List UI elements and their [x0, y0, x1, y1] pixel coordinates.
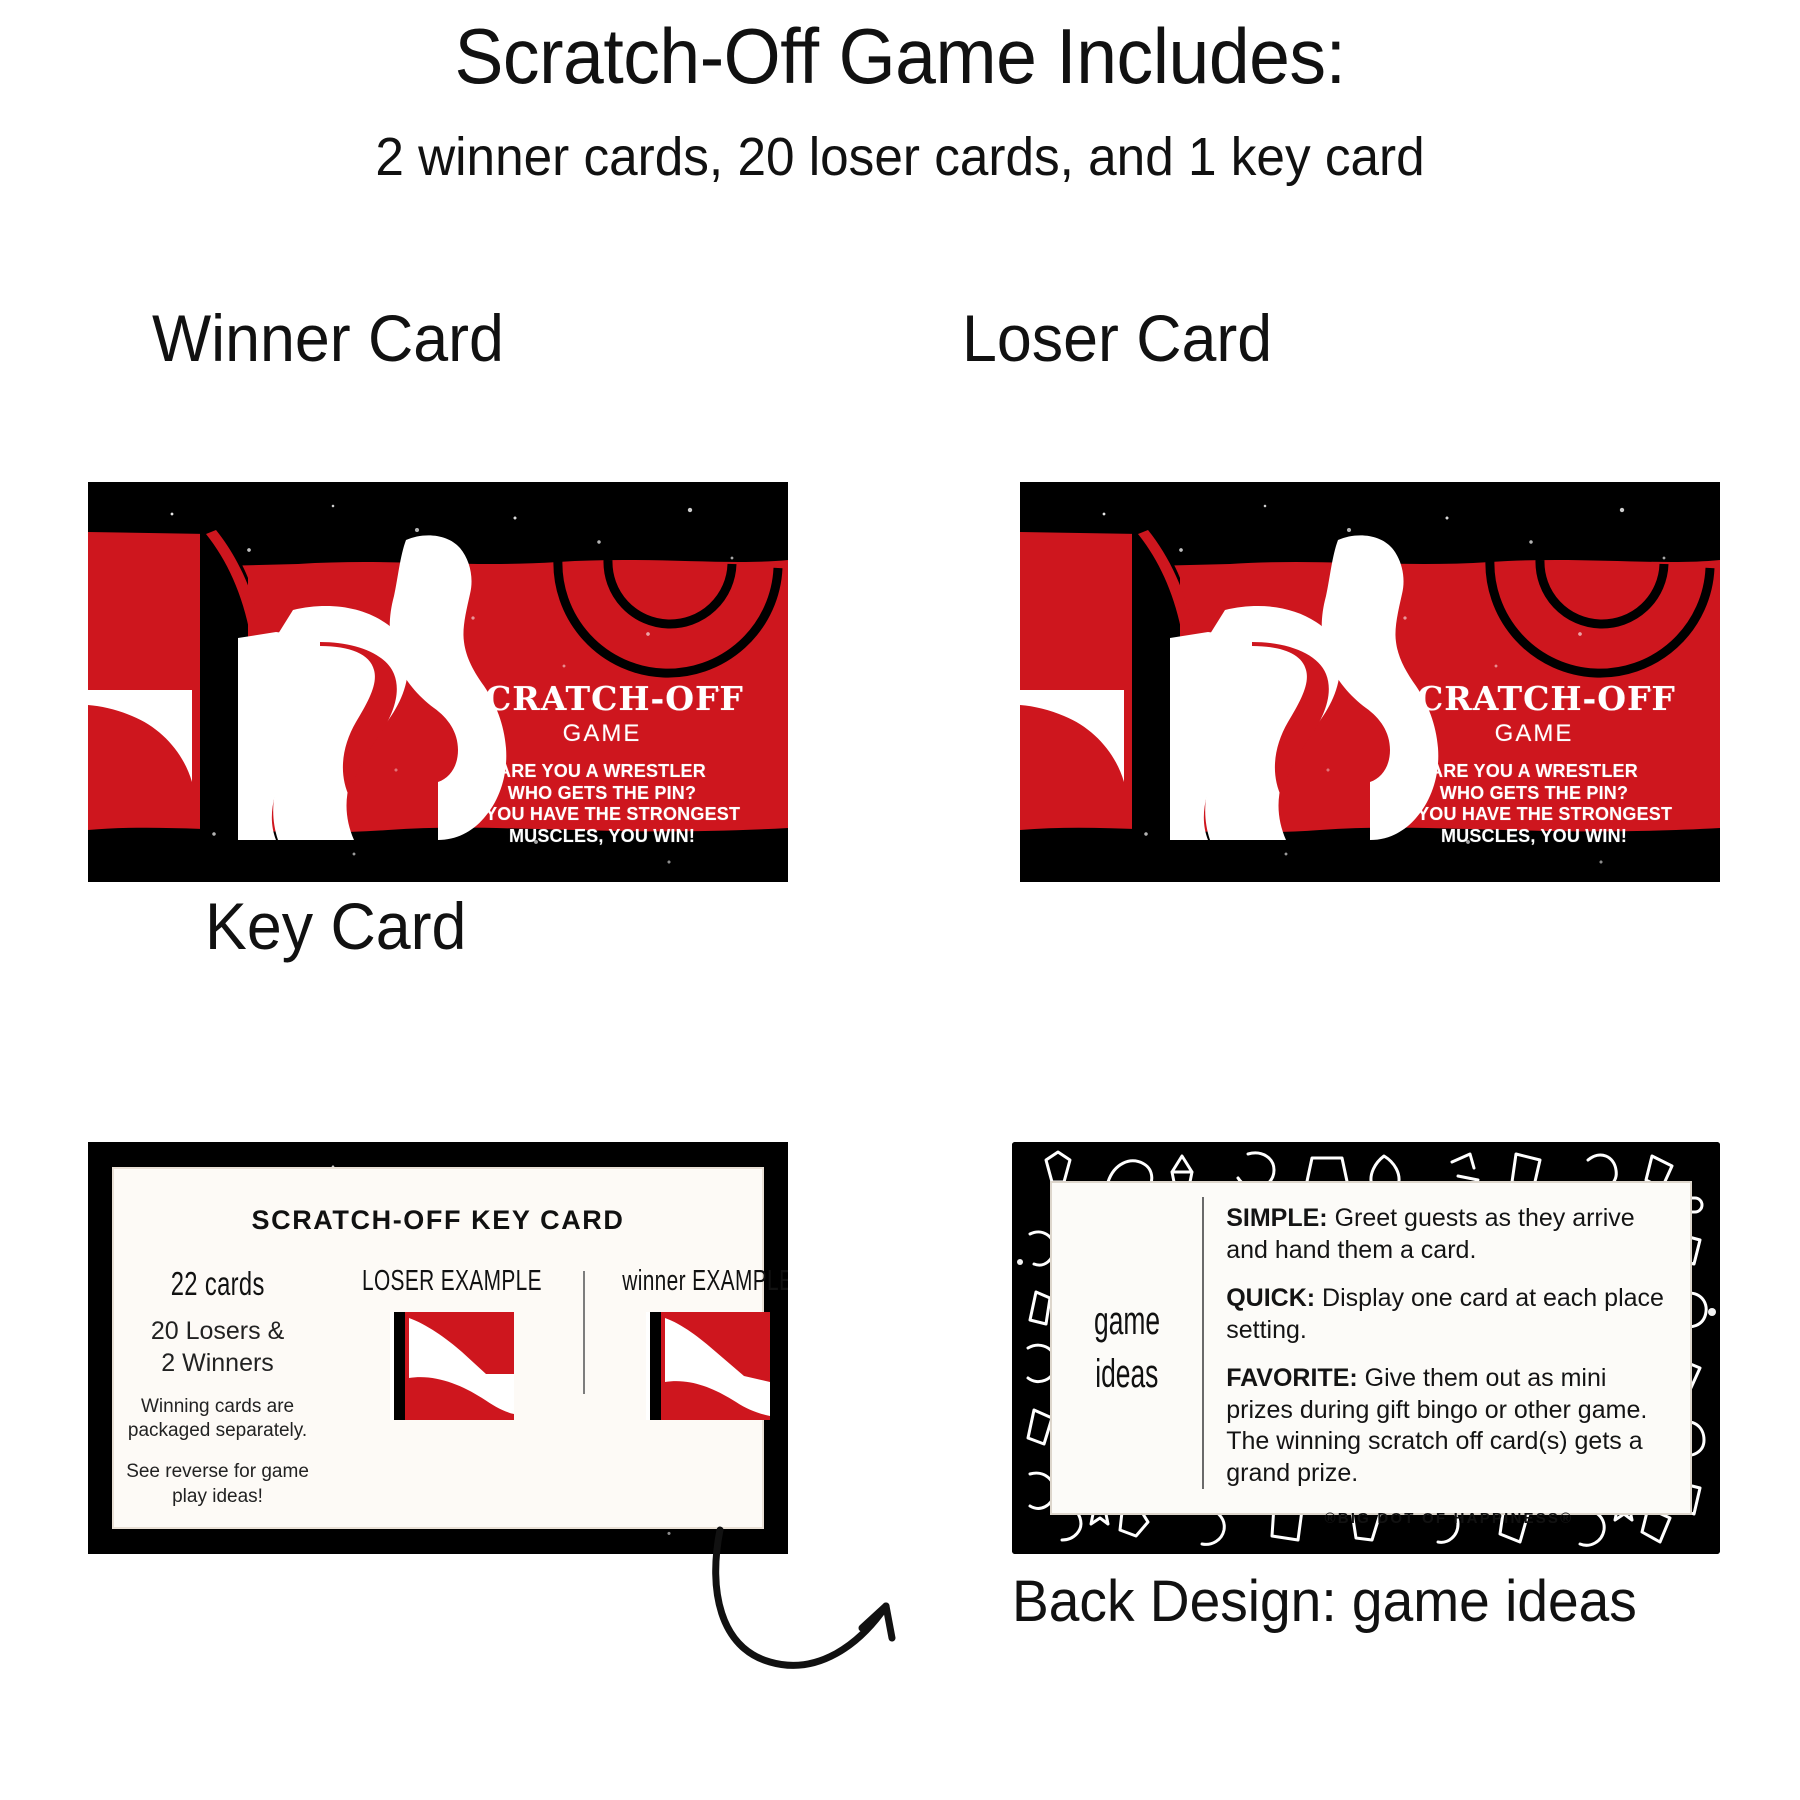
loser-thumb-art — [390, 1312, 514, 1420]
winner-example-thumbnail — [646, 1312, 770, 1420]
game-ideas-list: SIMPLE: Greet guests as they arrive and … — [1204, 1183, 1689, 1513]
back-design-card-image: game ideas SIMPLE: Greet guests as they … — [1012, 1142, 1720, 1554]
key-card-image: SCRATCH-OFF KEY CARD 22 cards 20 Losers … — [88, 1142, 788, 1554]
winner-card-image: SCRATCH-OFF GAME ARE YOU A WRESTLER WHO … — [88, 482, 788, 882]
game-idea-term: FAVORITE: — [1226, 1364, 1357, 1392]
scratch-off-body-line: IF YOU HAVE THE STRONGEST — [1384, 804, 1684, 826]
reverse-note-line1: See reverse for game — [120, 1460, 315, 1485]
scratch-off-body-line: MUSCLES, YOU WIN! — [452, 826, 752, 848]
product-detail-image: Scratch-Off Game Includes: 2 winner card… — [0, 0, 1800, 1800]
game-idea-item: FAVORITE: Give them out as mini prizes d… — [1226, 1363, 1671, 1489]
game-ideas-title-line2: ideas — [1096, 1352, 1159, 1397]
scratch-off-body-line: ARE YOU A WRESTLER — [1384, 761, 1684, 783]
scratch-off-body-line: WHO GETS THE PIN? — [1384, 783, 1684, 805]
card-count: 22 cards — [147, 1265, 288, 1303]
scratch-off-body-line: WHO GETS THE PIN? — [452, 783, 752, 805]
scratch-off-body-line: ARE YOU A WRESTLER — [452, 761, 752, 783]
winner-thumb-art — [646, 1312, 770, 1420]
loser-card-label: Loser Card — [962, 300, 1272, 376]
game-ideas-title-line1: game — [1094, 1299, 1160, 1344]
scratch-off-headline: SCRATCH-OFF — [452, 682, 752, 715]
card-breakdown-line1: 20 Losers & — [120, 1315, 315, 1347]
loser-example-label: LOSER EXAMPLE — [362, 1265, 542, 1298]
key-card-title: SCRATCH-OFF KEY CARD — [114, 1205, 762, 1236]
page-subtitle: 2 winner cards, 20 loser cards, and 1 ke… — [45, 128, 1755, 187]
scratch-off-subhead: GAME — [452, 719, 752, 749]
key-card-label: Key Card — [205, 888, 466, 964]
key-card-inner-panel: SCRATCH-OFF KEY CARD 22 cards 20 Losers … — [112, 1167, 764, 1530]
key-card-columns: 22 cards 20 Losers & 2 Winners Winning c… — [114, 1265, 762, 1510]
winner-example-label: winner EXAMPLE — [622, 1265, 788, 1298]
packaging-note-line1: Winning cards are — [120, 1395, 315, 1420]
page-title: Scratch-Off Game Includes: — [54, 14, 1746, 98]
game-ideas-title: game ideas — [1052, 1183, 1202, 1513]
loser-example-column: LOSER EXAMPLE — [321, 1265, 583, 1420]
loser-card-copy: SCRATCH-OFF GAME ARE YOU A WRESTLER WHO … — [1384, 682, 1684, 847]
game-idea-term: SIMPLE: — [1226, 1204, 1327, 1232]
scratch-off-subhead: GAME — [1384, 719, 1684, 749]
loser-card-image: SCRATCH-OFF GAME ARE YOU A WRESTLER WHO … — [1020, 482, 1720, 882]
packaging-note-line2: packaged separately. — [120, 1419, 315, 1444]
back-design-caption: Back Design: game ideas — [1012, 1568, 1637, 1635]
card-breakdown-line2: 2 Winners — [120, 1347, 315, 1379]
scratch-off-body-line: IF YOU HAVE THE STRONGEST — [452, 804, 752, 826]
scratch-off-body-line: MUSCLES, YOU WIN! — [1384, 826, 1684, 848]
game-idea-term: QUICK: — [1226, 1284, 1315, 1312]
curved-arrow-icon — [700, 1520, 1000, 1700]
reverse-note-line2: play ideas! — [120, 1485, 315, 1510]
brand-mark: ®BIG DOT OF HAPPINESS® — [1226, 1510, 1671, 1527]
winner-card-copy: SCRATCH-OFF GAME ARE YOU A WRESTLER WHO … — [452, 682, 752, 847]
loser-example-thumbnail — [390, 1312, 514, 1420]
winner-example-column: winner EXAMPLE — [583, 1265, 788, 1420]
key-card-count-column: 22 cards 20 Losers & 2 Winners Winning c… — [114, 1265, 321, 1510]
winner-card-label: Winner Card — [152, 300, 504, 376]
game-idea-item: SIMPLE: Greet guests as they arrive and … — [1226, 1203, 1671, 1266]
game-ideas-panel: game ideas SIMPLE: Greet guests as they … — [1050, 1181, 1691, 1515]
scratch-off-headline: SCRATCH-OFF — [1384, 682, 1684, 715]
game-idea-item: QUICK: Display one card at each place se… — [1226, 1283, 1671, 1346]
